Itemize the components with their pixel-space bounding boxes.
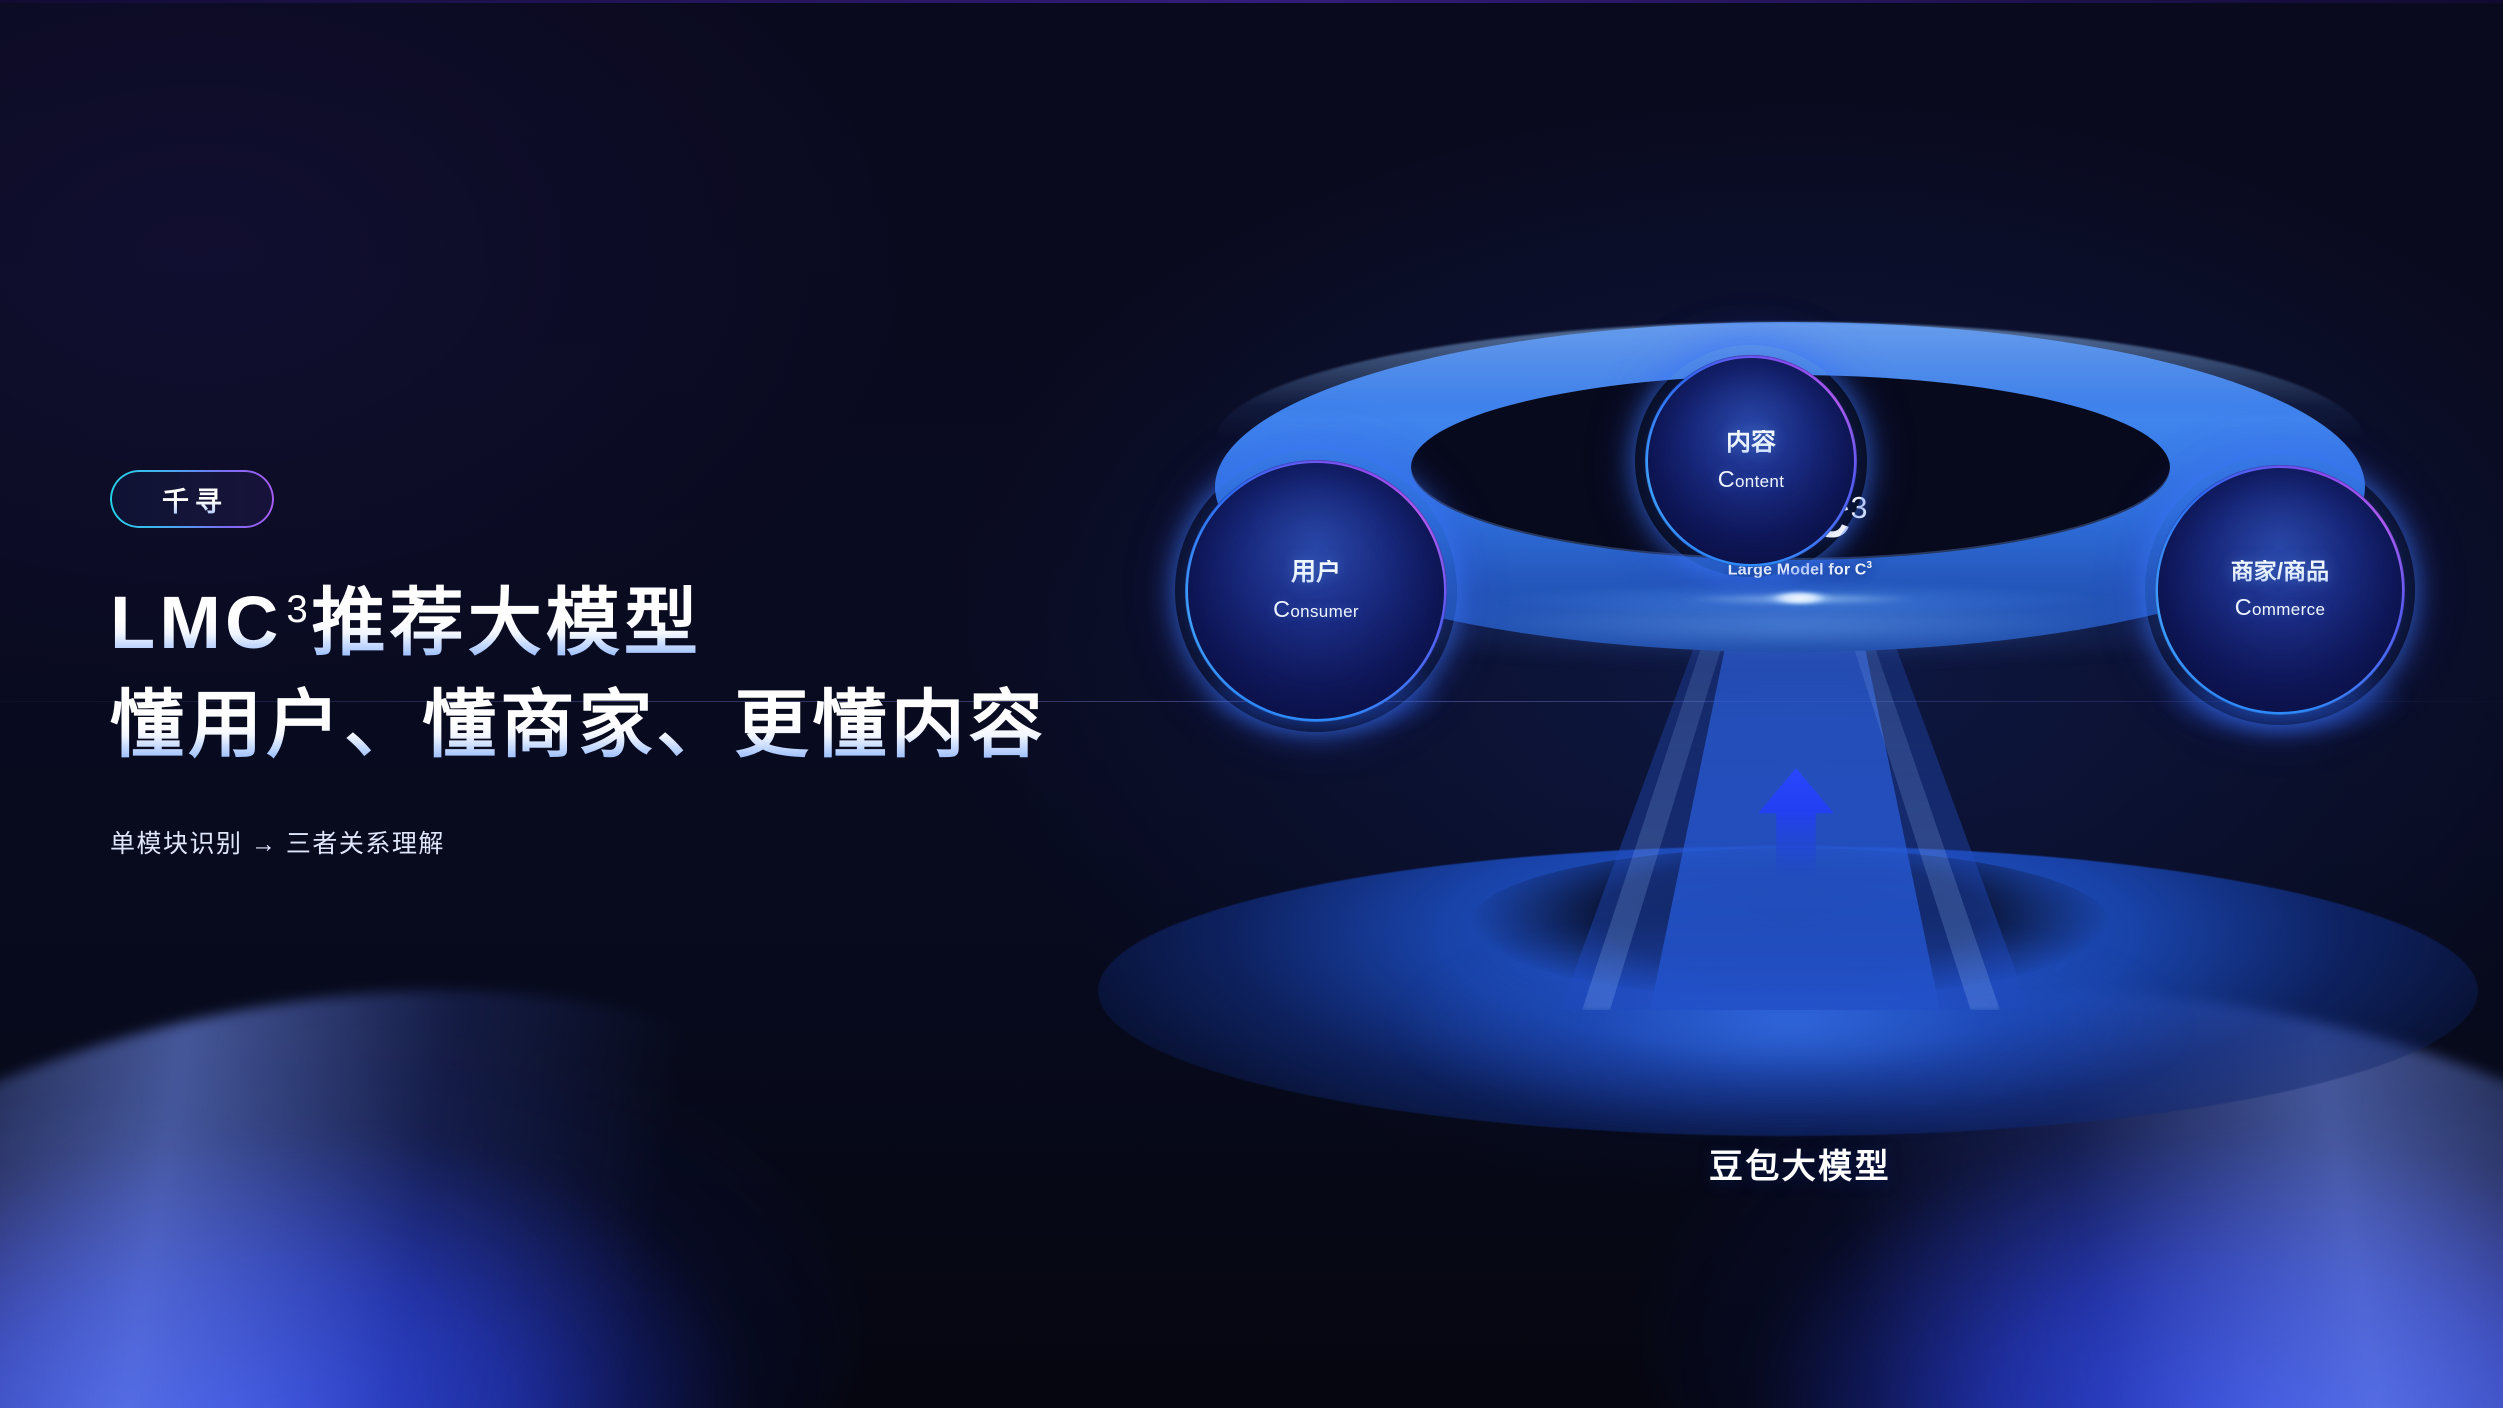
sphere-label-en: Content bbox=[1718, 468, 1785, 491]
headline-superscript: 3 bbox=[283, 588, 312, 631]
node-sphere-consumer[interactable]: 用户 Consumer bbox=[1185, 460, 1447, 722]
base-label: 豆包大模型 bbox=[1530, 1139, 2070, 1188]
brand-badge-label: 千寻 bbox=[156, 480, 228, 519]
sphere-label-en-rest: ommerce bbox=[2252, 600, 2325, 619]
headline-line-2: 懂用户、懂商家、更懂内容 bbox=[110, 682, 1210, 768]
node-sphere-commerce[interactable]: 商家/商品 Commerce bbox=[2155, 465, 2405, 715]
copy-block: 千寻 LMC3推荐大模型 懂用户、懂商家、更懂内容 单模块识别 → 三者关系理解 bbox=[110, 470, 1210, 860]
center-caption-superscript: 3 bbox=[1867, 560, 1873, 571]
diagram-graphic: 豆包大模型 LMC3 Large Model for C3 用户 Con bbox=[1090, 300, 2490, 1060]
top-accent-line bbox=[0, 0, 2503, 3]
sphere-label-en-rest: ontent bbox=[1735, 472, 1784, 491]
sphere-label-en: Commerce bbox=[2231, 596, 2329, 619]
headline-line-1: LMC3推荐大模型 bbox=[110, 580, 1210, 666]
headline-line-1-rest: 推荐大模型 bbox=[312, 581, 702, 664]
sphere-label-cn: 用户 bbox=[1273, 560, 1359, 585]
brand-badge: 千寻 bbox=[110, 470, 274, 528]
sphere-label-en-rest: onsumer bbox=[1290, 602, 1359, 621]
light-flare-core bbox=[1762, 589, 1836, 607]
background-wave-left bbox=[0, 1028, 850, 1408]
sphere-label-en-cap: C bbox=[2235, 594, 2252, 620]
headline-lmc-text: LMC bbox=[110, 581, 283, 664]
sphere-label-en-cap: C bbox=[1718, 466, 1735, 492]
subtitle: 单模块识别 → 三者关系理解 bbox=[110, 824, 1210, 860]
sphere-text: 用户 Consumer bbox=[1273, 560, 1359, 621]
sphere-label-en-cap: C bbox=[1273, 596, 1290, 622]
hero-banner: 千寻 LMC3推荐大模型 懂用户、懂商家、更懂内容 单模块识别 → 三者关系理解… bbox=[0, 0, 2503, 1408]
center-caption: Large Model for C3 bbox=[1530, 560, 2070, 579]
sphere-label-cn: 内容 bbox=[1718, 430, 1785, 455]
sphere-label-en: Consumer bbox=[1273, 598, 1359, 621]
node-sphere-content[interactable]: 内容 Content bbox=[1645, 355, 1857, 567]
sphere-text: 商家/商品 Commerce bbox=[2231, 560, 2329, 619]
center-title-superscript: 3 bbox=[1851, 492, 1868, 525]
sphere-label-cn: 商家/商品 bbox=[2231, 560, 2329, 583]
sphere-text: 内容 Content bbox=[1718, 430, 1785, 491]
